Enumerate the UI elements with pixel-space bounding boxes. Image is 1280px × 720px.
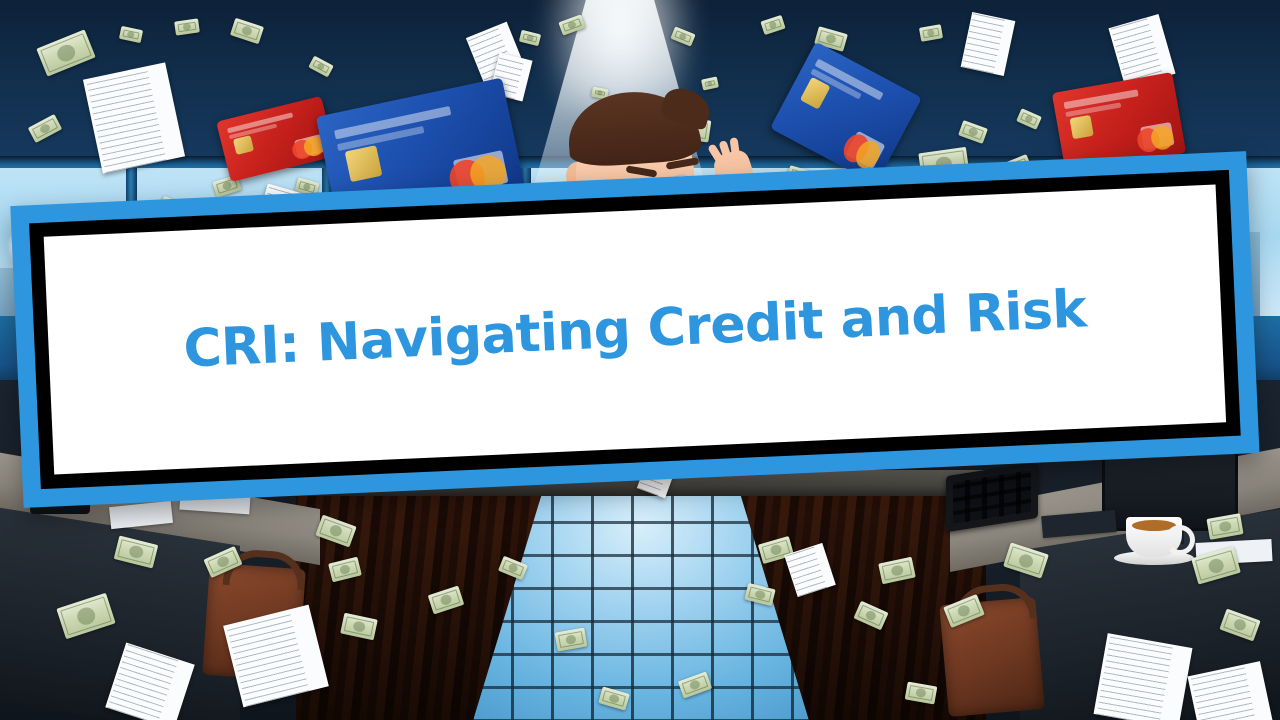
character-hair [566,87,703,168]
title-banner: CRI: Navigating Credit and Risk [10,151,1259,508]
title-banner-black-border: CRI: Navigating Credit and Risk [29,170,1241,489]
coffee-cup [1126,517,1182,557]
page-title: CRI: Navigating Credit and Risk [182,283,1087,375]
character-eyebrow-left [626,165,658,177]
title-banner-sheet: CRI: Navigating Credit and Risk [44,185,1226,475]
document-sheet [1094,633,1193,720]
pit-sinkhole [296,470,986,720]
slide-canvas: CRI: Navigating Credit and Risk [0,0,1280,720]
